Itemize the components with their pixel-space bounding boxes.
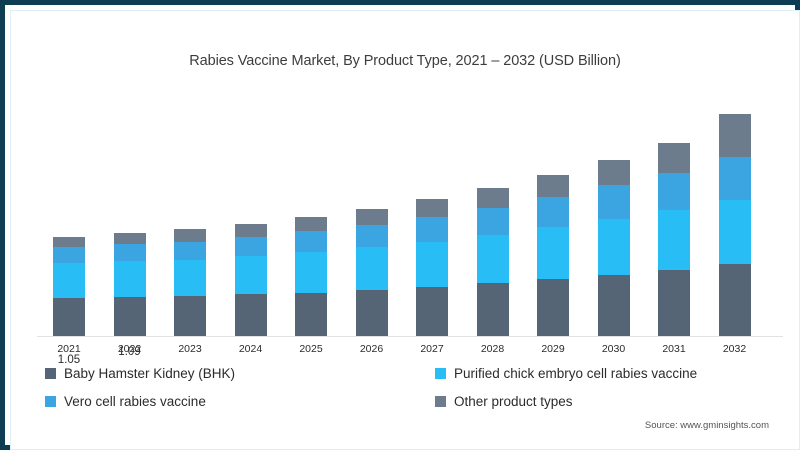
bar-segment[interactable] <box>295 217 327 231</box>
legend-label: Baby Hamster Kidney (BHK) <box>64 367 235 381</box>
bar-segment[interactable] <box>537 227 569 279</box>
bar-segment[interactable] <box>598 275 630 336</box>
bar-segment[interactable] <box>356 247 388 289</box>
bar-group-2022[interactable]: 1.09 <box>114 233 146 336</box>
bar-segment[interactable] <box>719 200 751 264</box>
bar-segment[interactable] <box>658 173 690 211</box>
bar-segment[interactable] <box>295 231 327 252</box>
x-axis-line <box>37 336 783 337</box>
x-tick-2027: 2027 <box>402 343 462 355</box>
bar-segment[interactable] <box>174 229 206 241</box>
bar-segment[interactable] <box>719 114 751 156</box>
x-tick-2023: 2023 <box>160 343 220 355</box>
plot-area: 1.051.09 <box>45 100 775 336</box>
x-tick-2022: 2022 <box>100 343 160 355</box>
bar-segment[interactable] <box>537 175 569 198</box>
bar-group-2028[interactable] <box>477 188 509 336</box>
legend-swatch-icon <box>45 368 56 379</box>
bar-segment[interactable] <box>356 225 388 248</box>
legend-swatch-icon <box>435 396 446 407</box>
bar-group-2031[interactable] <box>658 143 690 336</box>
bar-segment[interactable] <box>416 287 448 336</box>
bar-segment[interactable] <box>53 298 85 336</box>
bar-segment[interactable] <box>477 188 509 208</box>
x-tick-2028: 2028 <box>463 343 523 355</box>
bar-segment[interactable] <box>53 237 85 247</box>
chart-title: Rabies Vaccine Market, By Product Type, … <box>5 53 800 69</box>
bar-segment[interactable] <box>114 261 146 297</box>
chart-frame: Rabies Vaccine Market, By Product Type, … <box>0 0 800 450</box>
bar-segment[interactable] <box>53 263 85 298</box>
bar-group-2032[interactable] <box>719 114 751 336</box>
bar-segment[interactable] <box>719 264 751 336</box>
x-tick-2025: 2025 <box>281 343 341 355</box>
bar-segment[interactable] <box>658 143 690 172</box>
bar-segment[interactable] <box>537 279 569 336</box>
x-tick-2029: 2029 <box>523 343 583 355</box>
legend-swatch-icon <box>45 396 56 407</box>
legend-item[interactable]: Purified chick embryo cell rabies vaccin… <box>435 367 697 381</box>
bar-segment[interactable] <box>598 185 630 219</box>
x-tick-2032: 2032 <box>705 343 765 355</box>
bar-segment[interactable] <box>114 233 146 244</box>
bar-segment[interactable] <box>235 237 267 256</box>
bar-segment[interactable] <box>53 247 85 263</box>
bar-segment[interactable] <box>114 297 146 336</box>
bar-group-2023[interactable] <box>174 229 206 336</box>
x-tick-2021: 2021 <box>39 343 99 355</box>
bar-segment[interactable] <box>174 260 206 297</box>
bar-segment[interactable] <box>174 242 206 260</box>
legend-label: Purified chick embryo cell rabies vaccin… <box>454 367 697 381</box>
bar-group-2021[interactable]: 1.05 <box>53 237 85 336</box>
bar-segment[interactable] <box>235 294 267 336</box>
bar-group-2029[interactable] <box>537 175 569 336</box>
bar-group-2024[interactable] <box>235 224 267 336</box>
x-tick-2030: 2030 <box>584 343 644 355</box>
bar-group-2025[interactable] <box>295 217 327 336</box>
bar-segment[interactable] <box>295 252 327 293</box>
bar-segment[interactable] <box>235 256 267 295</box>
x-tick-2026: 2026 <box>342 343 402 355</box>
bar-segment[interactable] <box>416 242 448 287</box>
bar-segment[interactable] <box>477 283 509 336</box>
bar-segment[interactable] <box>719 157 751 200</box>
bar-group-2027[interactable] <box>416 199 448 336</box>
bar-segment[interactable] <box>295 293 327 336</box>
x-tick-2031: 2031 <box>644 343 704 355</box>
legend-item[interactable]: Vero cell rabies vaccine <box>45 395 206 409</box>
bar-segment[interactable] <box>477 235 509 283</box>
x-axis-labels: 2021202220232024202520262027202820292030… <box>45 341 775 361</box>
bar-segment[interactable] <box>416 217 448 242</box>
bar-group-2026[interactable] <box>356 209 388 336</box>
bar-segment[interactable] <box>235 224 267 237</box>
bar-segment[interactable] <box>416 199 448 217</box>
legend-label: Vero cell rabies vaccine <box>64 395 206 409</box>
bar-segment[interactable] <box>598 160 630 185</box>
bar-segment[interactable] <box>658 270 690 336</box>
bar-segment[interactable] <box>658 210 690 269</box>
bar-segment[interactable] <box>477 208 509 235</box>
source-attribution: Source: www.gminsights.com <box>645 420 769 431</box>
x-tick-2024: 2024 <box>221 343 281 355</box>
bar-segment[interactable] <box>356 209 388 225</box>
bar-segment[interactable] <box>598 219 630 275</box>
bar-segment[interactable] <box>174 296 206 336</box>
bar-segment[interactable] <box>356 290 388 336</box>
legend-label: Other product types <box>454 395 573 409</box>
chart-legend: Baby Hamster Kidney (BHK)Purified chick … <box>45 367 765 417</box>
bar-segment[interactable] <box>537 197 569 227</box>
bar-segment[interactable] <box>114 244 146 261</box>
bar-group-2030[interactable] <box>598 160 630 337</box>
legend-item[interactable]: Baby Hamster Kidney (BHK) <box>45 367 235 381</box>
legend-item[interactable]: Other product types <box>435 395 573 409</box>
legend-swatch-icon <box>435 368 446 379</box>
